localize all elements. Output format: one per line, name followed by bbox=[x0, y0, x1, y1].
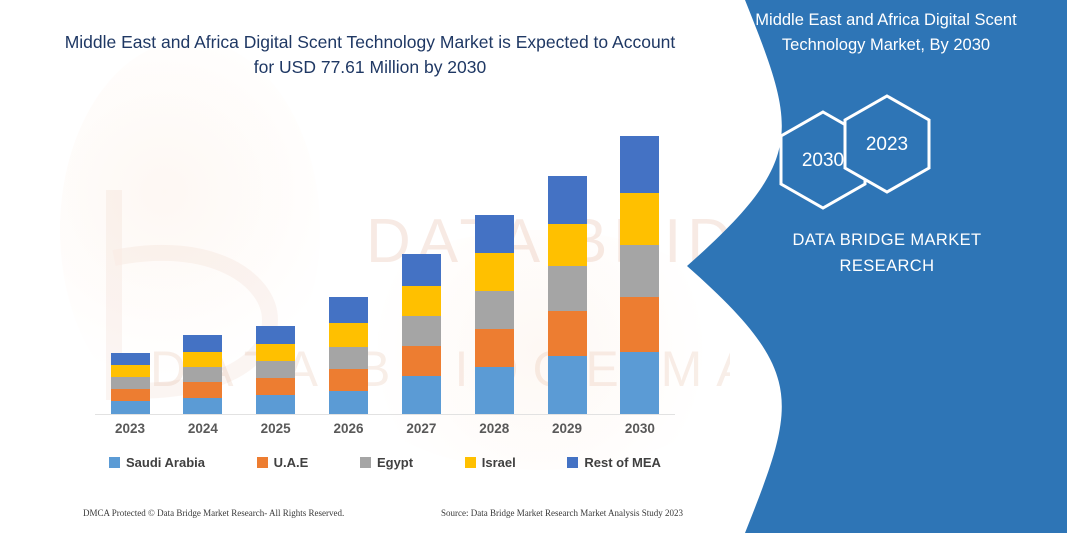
bar-segment-saudi-arabia bbox=[402, 376, 441, 414]
bar-stack bbox=[111, 353, 150, 414]
bar-segment-saudi-arabia bbox=[329, 391, 368, 414]
bar-stack bbox=[475, 215, 514, 414]
bar-segment-saudi-arabia bbox=[548, 356, 587, 414]
bar-segment-u-a-e bbox=[548, 311, 587, 356]
bar-segment-rest-of-mea bbox=[402, 254, 441, 286]
brand-line-1: DATA BRIDGE MARKET bbox=[727, 228, 1047, 254]
hexagon-2030-label: 2030 bbox=[802, 150, 844, 171]
bar-segment-israel bbox=[402, 286, 441, 316]
x-axis-tick-2025: 2025 bbox=[241, 421, 311, 436]
x-axis-labels: 20232024202520262027202820292030 bbox=[95, 421, 675, 436]
bar-stack bbox=[329, 297, 368, 414]
legend-swatch-icon bbox=[465, 457, 476, 468]
bar-segment-rest-of-mea bbox=[620, 136, 659, 193]
bar-segment-israel bbox=[183, 352, 222, 367]
hexagon-2023-label: 2023 bbox=[866, 134, 908, 155]
bar-segment-israel bbox=[475, 253, 514, 291]
bar-segment-rest-of-mea bbox=[475, 215, 514, 253]
legend-label: Rest of MEA bbox=[584, 455, 661, 470]
bar-segment-u-a-e bbox=[111, 389, 150, 401]
bar-segment-egypt bbox=[183, 367, 222, 382]
bar-segment-u-a-e bbox=[475, 329, 514, 367]
bar-column-2024 bbox=[168, 110, 238, 414]
legend-swatch-icon bbox=[360, 457, 371, 468]
bar-column-2023 bbox=[95, 110, 165, 414]
bar-segment-egypt bbox=[402, 316, 441, 346]
bar-segment-u-a-e bbox=[183, 382, 222, 398]
legend-label: Egypt bbox=[377, 455, 413, 470]
x-axis-tick-2028: 2028 bbox=[459, 421, 529, 436]
bar-segment-saudi-arabia bbox=[183, 398, 222, 414]
bar-segment-u-a-e bbox=[329, 369, 368, 391]
x-axis-tick-2026: 2026 bbox=[314, 421, 384, 436]
bar-segment-israel bbox=[329, 323, 368, 347]
legend-item-egypt[interactable]: Egypt bbox=[360, 455, 413, 470]
footer: DMCA Protected © Data Bridge Market Rese… bbox=[83, 508, 683, 518]
bar-column-2030 bbox=[605, 110, 675, 414]
bar-segment-egypt bbox=[548, 266, 587, 311]
bar-stack bbox=[183, 335, 222, 414]
bar-segment-saudi-arabia bbox=[256, 395, 295, 414]
bar-segment-saudi-arabia bbox=[475, 367, 514, 414]
bar-column-2025 bbox=[241, 110, 311, 414]
chart-plot-area bbox=[95, 110, 675, 415]
legend-item-rest-of-mea[interactable]: Rest of MEA bbox=[567, 455, 661, 470]
bar-segment-egypt bbox=[475, 291, 514, 329]
bar-segment-israel bbox=[548, 224, 587, 266]
bar-stack bbox=[402, 254, 441, 414]
bar-column-2026 bbox=[314, 110, 384, 414]
bar-segment-rest-of-mea bbox=[111, 353, 150, 365]
bar-stack bbox=[548, 176, 587, 414]
bar-segment-u-a-e bbox=[620, 297, 659, 352]
legend-item-israel[interactable]: Israel bbox=[465, 455, 516, 470]
bar-segment-egypt bbox=[620, 245, 659, 297]
bar-segment-egypt bbox=[111, 377, 150, 389]
x-axis-tick-2030: 2030 bbox=[605, 421, 675, 436]
bar-segment-israel bbox=[111, 365, 150, 377]
legend-item-saudi-arabia[interactable]: Saudi Arabia bbox=[109, 455, 205, 470]
bar-segment-u-a-e bbox=[256, 378, 295, 395]
brand-panel: Middle East and Africa Digital Scent Tec… bbox=[687, 0, 1067, 533]
bar-column-2029 bbox=[532, 110, 602, 414]
bar-segment-egypt bbox=[329, 347, 368, 369]
x-axis-tick-2023: 2023 bbox=[95, 421, 165, 436]
legend-item-u-a-e[interactable]: U.A.E bbox=[257, 455, 309, 470]
bar-segment-rest-of-mea bbox=[548, 176, 587, 224]
bar-segment-rest-of-mea bbox=[256, 326, 295, 344]
x-axis-tick-2027: 2027 bbox=[386, 421, 456, 436]
legend-label: U.A.E bbox=[274, 455, 309, 470]
page-title: Middle East and Africa Digital Scent Tec… bbox=[60, 30, 680, 81]
hexagon-badges: 2030 2023 bbox=[765, 92, 1055, 212]
legend-swatch-icon bbox=[567, 457, 578, 468]
bar-segment-israel bbox=[620, 193, 659, 245]
axis-baseline bbox=[95, 414, 675, 415]
legend-label: Israel bbox=[482, 455, 516, 470]
bar-segment-saudi-arabia bbox=[111, 401, 150, 414]
brand-name: DATA BRIDGE MARKET RESEARCH bbox=[727, 228, 1047, 279]
bar-segment-israel bbox=[256, 344, 295, 361]
bar-segment-rest-of-mea bbox=[183, 335, 222, 352]
legend-swatch-icon bbox=[109, 457, 120, 468]
footer-copyright: DMCA Protected © Data Bridge Market Rese… bbox=[83, 508, 344, 518]
bar-column-2027 bbox=[386, 110, 456, 414]
x-axis-tick-2024: 2024 bbox=[168, 421, 238, 436]
bar-segment-egypt bbox=[256, 361, 295, 378]
bar-stack bbox=[256, 326, 295, 414]
bar-stack bbox=[620, 136, 659, 414]
bar-segment-u-a-e bbox=[402, 346, 441, 376]
x-axis-tick-2029: 2029 bbox=[532, 421, 602, 436]
legend-swatch-icon bbox=[257, 457, 268, 468]
bar-segment-saudi-arabia bbox=[620, 352, 659, 414]
panel-title: Middle East and Africa Digital Scent Tec… bbox=[721, 8, 1051, 58]
footer-source: Source: Data Bridge Market Research Mark… bbox=[441, 508, 683, 518]
legend-label: Saudi Arabia bbox=[126, 455, 205, 470]
brand-line-2: RESEARCH bbox=[727, 254, 1047, 280]
bar-group bbox=[95, 110, 675, 414]
chart-legend: Saudi ArabiaU.A.EEgyptIsraelRest of MEA bbox=[95, 455, 675, 470]
infographic-page: DATA BRIDGE DATA BRIDGE MARKET RESEARCH … bbox=[0, 0, 1067, 533]
bar-segment-rest-of-mea bbox=[329, 297, 368, 323]
bar-column-2028 bbox=[459, 110, 529, 414]
